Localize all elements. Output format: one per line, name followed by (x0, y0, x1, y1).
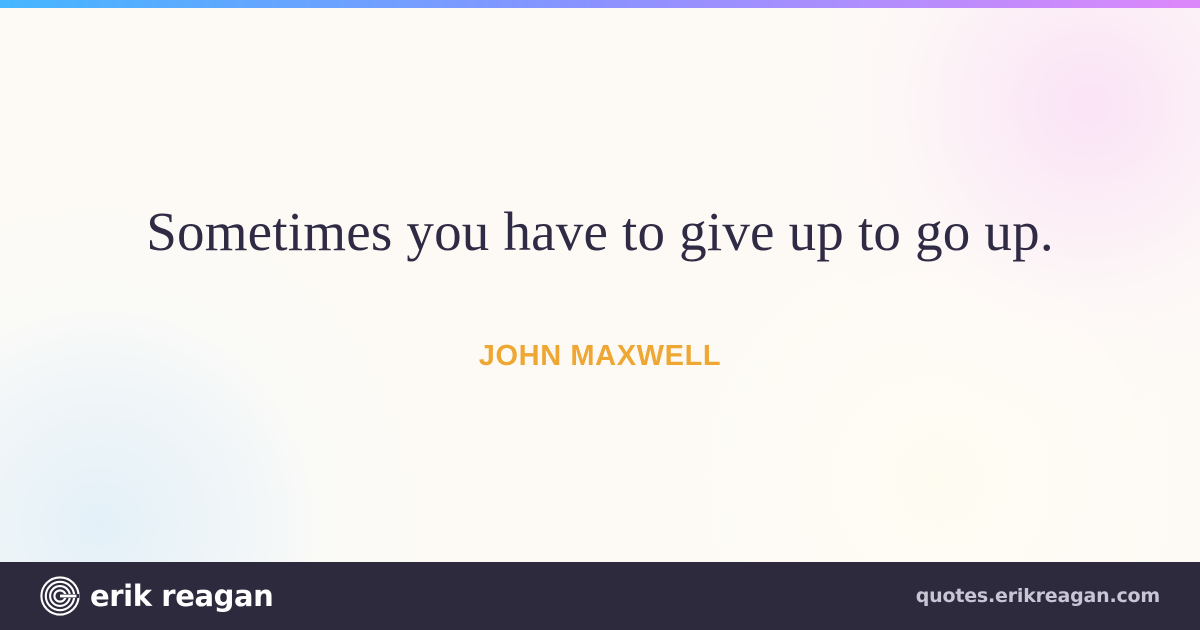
top-gradient-bar (0, 0, 1200, 8)
brand-lockup[interactable]: erik reagan (40, 576, 273, 616)
footer-url[interactable]: quotes.erikreagan.com (916, 587, 1160, 606)
quote-author: JOHN MAXWELL (479, 340, 721, 373)
quote-card: Sometimes you have to give up to go up. … (0, 0, 1200, 630)
concentric-e-logo-icon (40, 576, 80, 616)
footer-bar: erik reagan quotes.erikreagan.com (0, 562, 1200, 630)
brand-name: erik reagan (90, 582, 273, 611)
quote-content: Sometimes you have to give up to go up. … (0, 8, 1200, 562)
quote-text: Sometimes you have to give up to go up. (100, 197, 1100, 267)
